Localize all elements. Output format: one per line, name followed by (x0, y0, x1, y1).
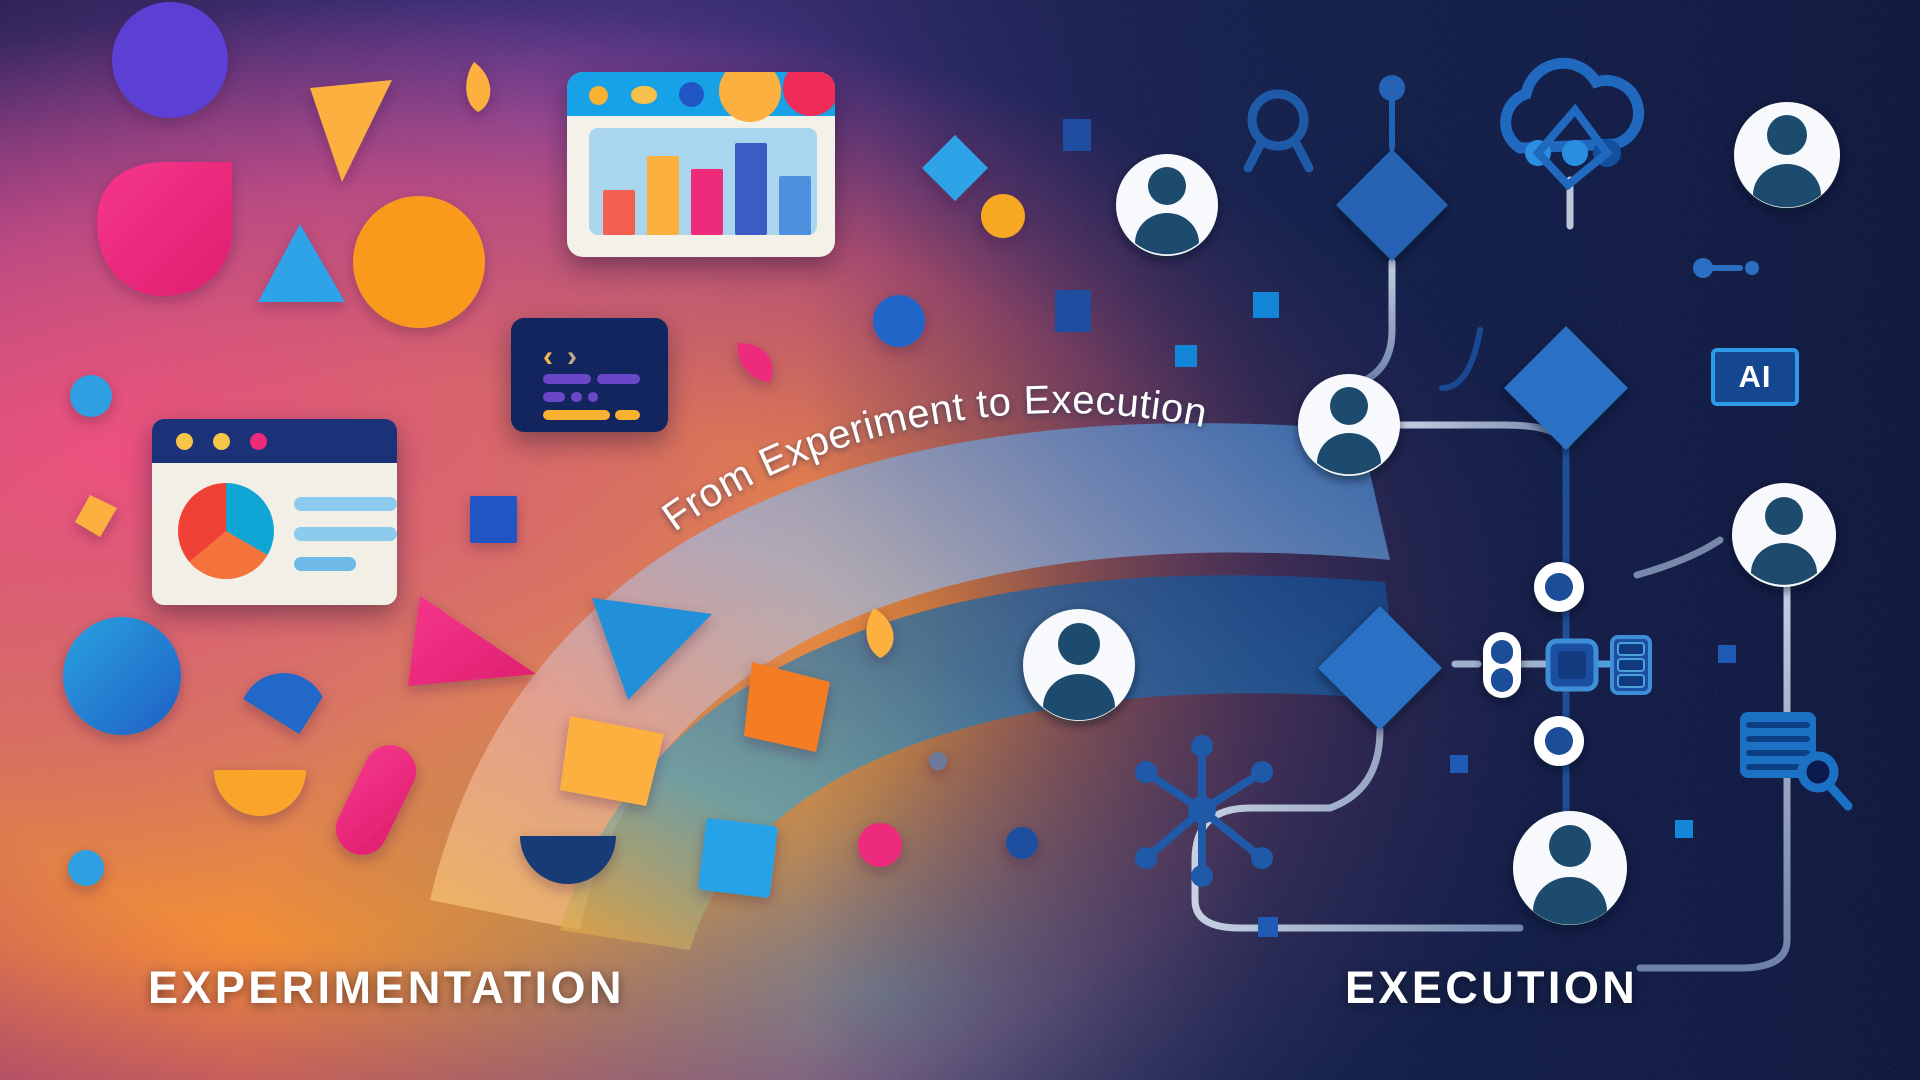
pie-window-titlebar (152, 419, 397, 463)
diamond-lower (1318, 606, 1442, 730)
magnifier-small-icon (1802, 756, 1848, 806)
avatar-mid-right (1732, 483, 1836, 587)
bar-3 (691, 169, 723, 235)
diamond-center (1504, 326, 1628, 450)
avatar-top-left (1116, 154, 1218, 256)
label-execution: EXECUTION (1345, 962, 1638, 1014)
titlebar-dot-b (213, 433, 230, 450)
titlebar-dot-4 (719, 72, 781, 122)
pie-dashboard-window[interactable] (152, 419, 397, 605)
code-line-6 (543, 410, 610, 420)
search-node-icon (1248, 94, 1309, 168)
titlebar-dot-5 (783, 72, 835, 116)
server-stack-icon (1612, 637, 1650, 693)
bar-1 (603, 190, 635, 235)
bar-chart-plot (589, 128, 817, 235)
chip-node-icon (1548, 641, 1596, 689)
detail-line-1 (294, 497, 397, 511)
ai-badge: AI (1711, 348, 1799, 406)
database-node-icon (1740, 712, 1848, 806)
code-line-7 (615, 410, 640, 420)
avatar-top-right (1734, 102, 1840, 208)
label-experimentation: EXPERIMENTATION (148, 962, 625, 1014)
binary-node-icon (1483, 632, 1521, 698)
code-editor-window[interactable]: ‹ › (511, 318, 668, 432)
titlebar-dot-3 (679, 82, 704, 107)
cloud-network-icon (1506, 63, 1639, 185)
titlebar-dot-1 (589, 86, 608, 105)
titlebar-dot-2 (631, 86, 657, 104)
code-chevron-right-icon: › (567, 342, 578, 372)
detail-line-3 (294, 557, 356, 571)
code-line-3 (543, 392, 565, 402)
code-chevron-left-icon: ‹ (543, 342, 554, 372)
code-line-5 (588, 392, 598, 402)
poster-canvas: From Experiment to Execution (0, 0, 1920, 1080)
avatar-bottom-left (1023, 609, 1135, 721)
code-line-2 (597, 374, 640, 384)
titlebar-dot-a (176, 433, 193, 450)
detail-line-2 (294, 527, 397, 541)
avatar-bottom-mid (1513, 811, 1627, 925)
avatar-mid-left (1298, 374, 1400, 476)
diamond-top (1336, 149, 1448, 261)
code-line-4 (571, 392, 582, 402)
code-line-1 (543, 374, 591, 384)
bar-4 (735, 143, 767, 235)
pie-chart (178, 483, 274, 579)
bar-2 (647, 156, 679, 235)
titlebar-dot-c (250, 433, 267, 450)
bar-window-titlebar (567, 72, 835, 116)
bar-5 (779, 176, 811, 235)
avatar-group (1023, 102, 1840, 925)
bar-chart-window[interactable] (567, 72, 835, 257)
